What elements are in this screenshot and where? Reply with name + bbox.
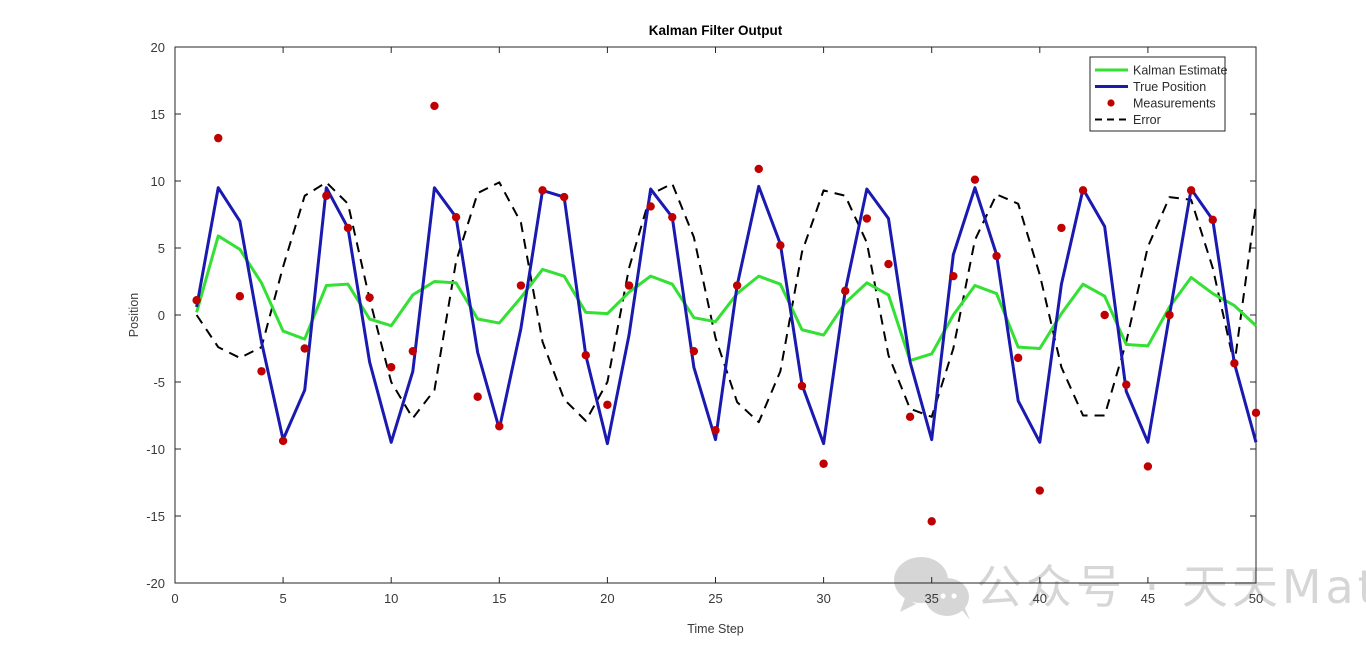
legend-label: True Position: [1133, 80, 1206, 94]
measurement-point: [1187, 186, 1195, 194]
x-tick-label: 15: [492, 591, 506, 606]
measurement-point: [733, 281, 741, 289]
measurement-point: [711, 426, 719, 434]
series-line-true-position: [197, 186, 1256, 443]
x-tick-label: 10: [384, 591, 398, 606]
measurement-point: [776, 241, 784, 249]
measurement-point: [452, 213, 460, 221]
measurement-point: [279, 437, 287, 445]
x-tick-label: 0: [171, 591, 178, 606]
measurement-point: [214, 134, 222, 142]
y-tick-label: 0: [158, 308, 165, 323]
measurement-point: [1100, 311, 1108, 319]
x-tick-label: 50: [1249, 591, 1263, 606]
x-tick-label: 25: [708, 591, 722, 606]
measurement-point: [409, 347, 417, 355]
measurement-point: [387, 363, 395, 371]
legend-dot-icon: [1107, 99, 1114, 106]
measurement-point: [1252, 409, 1260, 417]
measurement-point: [819, 460, 827, 468]
measurement-point: [603, 401, 611, 409]
measurement-point: [1144, 462, 1152, 470]
legend-label: Error: [1133, 113, 1161, 127]
measurement-point: [495, 422, 503, 430]
y-tick-label: 10: [151, 174, 165, 189]
measurements-scatter: [192, 102, 1260, 526]
measurement-point: [301, 344, 309, 352]
y-tick-label: 15: [151, 107, 165, 122]
measurement-point: [949, 272, 957, 280]
measurement-point: [517, 281, 525, 289]
measurement-point: [236, 292, 244, 300]
x-axis-title: Time Step: [687, 622, 744, 636]
watermark-group: 公众号 · 天天Matlab: [894, 557, 1366, 620]
legend-label: Kalman Estimate: [1133, 64, 1228, 78]
measurement-point: [863, 214, 871, 222]
series-line-error: [197, 182, 1256, 422]
measurement-point: [1036, 486, 1044, 494]
measurement-point: [906, 413, 914, 421]
y-tick-label: -20: [146, 576, 165, 591]
measurement-point: [322, 192, 330, 200]
y-tick-label: 5: [158, 241, 165, 256]
y-axis-title: Position: [127, 293, 141, 338]
measurement-point: [560, 193, 568, 201]
x-tick-label: 20: [600, 591, 614, 606]
measurement-point: [1014, 354, 1022, 362]
y-tick-label: -10: [146, 442, 165, 457]
measurement-point: [971, 175, 979, 183]
figure-canvas: 公众号 · 天天Matlab05101520253035404550-20-15…: [0, 0, 1366, 651]
measurement-point: [473, 393, 481, 401]
y-tick-label: 20: [151, 40, 165, 55]
x-tick-label: 5: [279, 591, 286, 606]
measurement-point: [1079, 186, 1087, 194]
measurement-point: [1230, 359, 1238, 367]
measurement-point: [430, 102, 438, 110]
measurement-point: [344, 224, 352, 232]
measurement-point: [257, 367, 265, 375]
x-tick-label: 30: [816, 591, 830, 606]
measurement-point: [841, 287, 849, 295]
legend-label: Measurements: [1133, 97, 1216, 111]
measurement-point: [365, 293, 373, 301]
measurement-point: [1209, 216, 1217, 224]
measurement-point: [625, 281, 633, 289]
series-line-kalman-estimate: [197, 236, 1256, 361]
x-tick-label: 35: [924, 591, 938, 606]
x-tick-label: 40: [1033, 591, 1047, 606]
legend: Kalman EstimateTrue PositionMeasurements…: [1090, 57, 1228, 131]
y-tick-label: -5: [153, 375, 165, 390]
measurement-point: [884, 260, 892, 268]
measurement-point: [582, 351, 590, 359]
measurement-point: [668, 213, 676, 221]
measurement-point: [1122, 380, 1130, 388]
wechat-logo-icon: [894, 557, 970, 620]
measurement-point: [538, 186, 546, 194]
measurement-point: [192, 296, 200, 304]
measurement-point: [646, 202, 654, 210]
measurement-point: [755, 165, 763, 173]
measurement-point: [1165, 311, 1173, 319]
x-tick-label: 45: [1141, 591, 1155, 606]
measurement-point: [798, 382, 806, 390]
measurement-point: [992, 252, 1000, 260]
measurement-point: [928, 517, 936, 525]
chart-title: Kalman Filter Output: [649, 23, 783, 38]
y-tick-label: -15: [146, 509, 165, 524]
measurement-point: [1057, 224, 1065, 232]
kalman-filter-chart: 公众号 · 天天Matlab05101520253035404550-20-15…: [0, 0, 1366, 651]
measurement-point: [690, 347, 698, 355]
